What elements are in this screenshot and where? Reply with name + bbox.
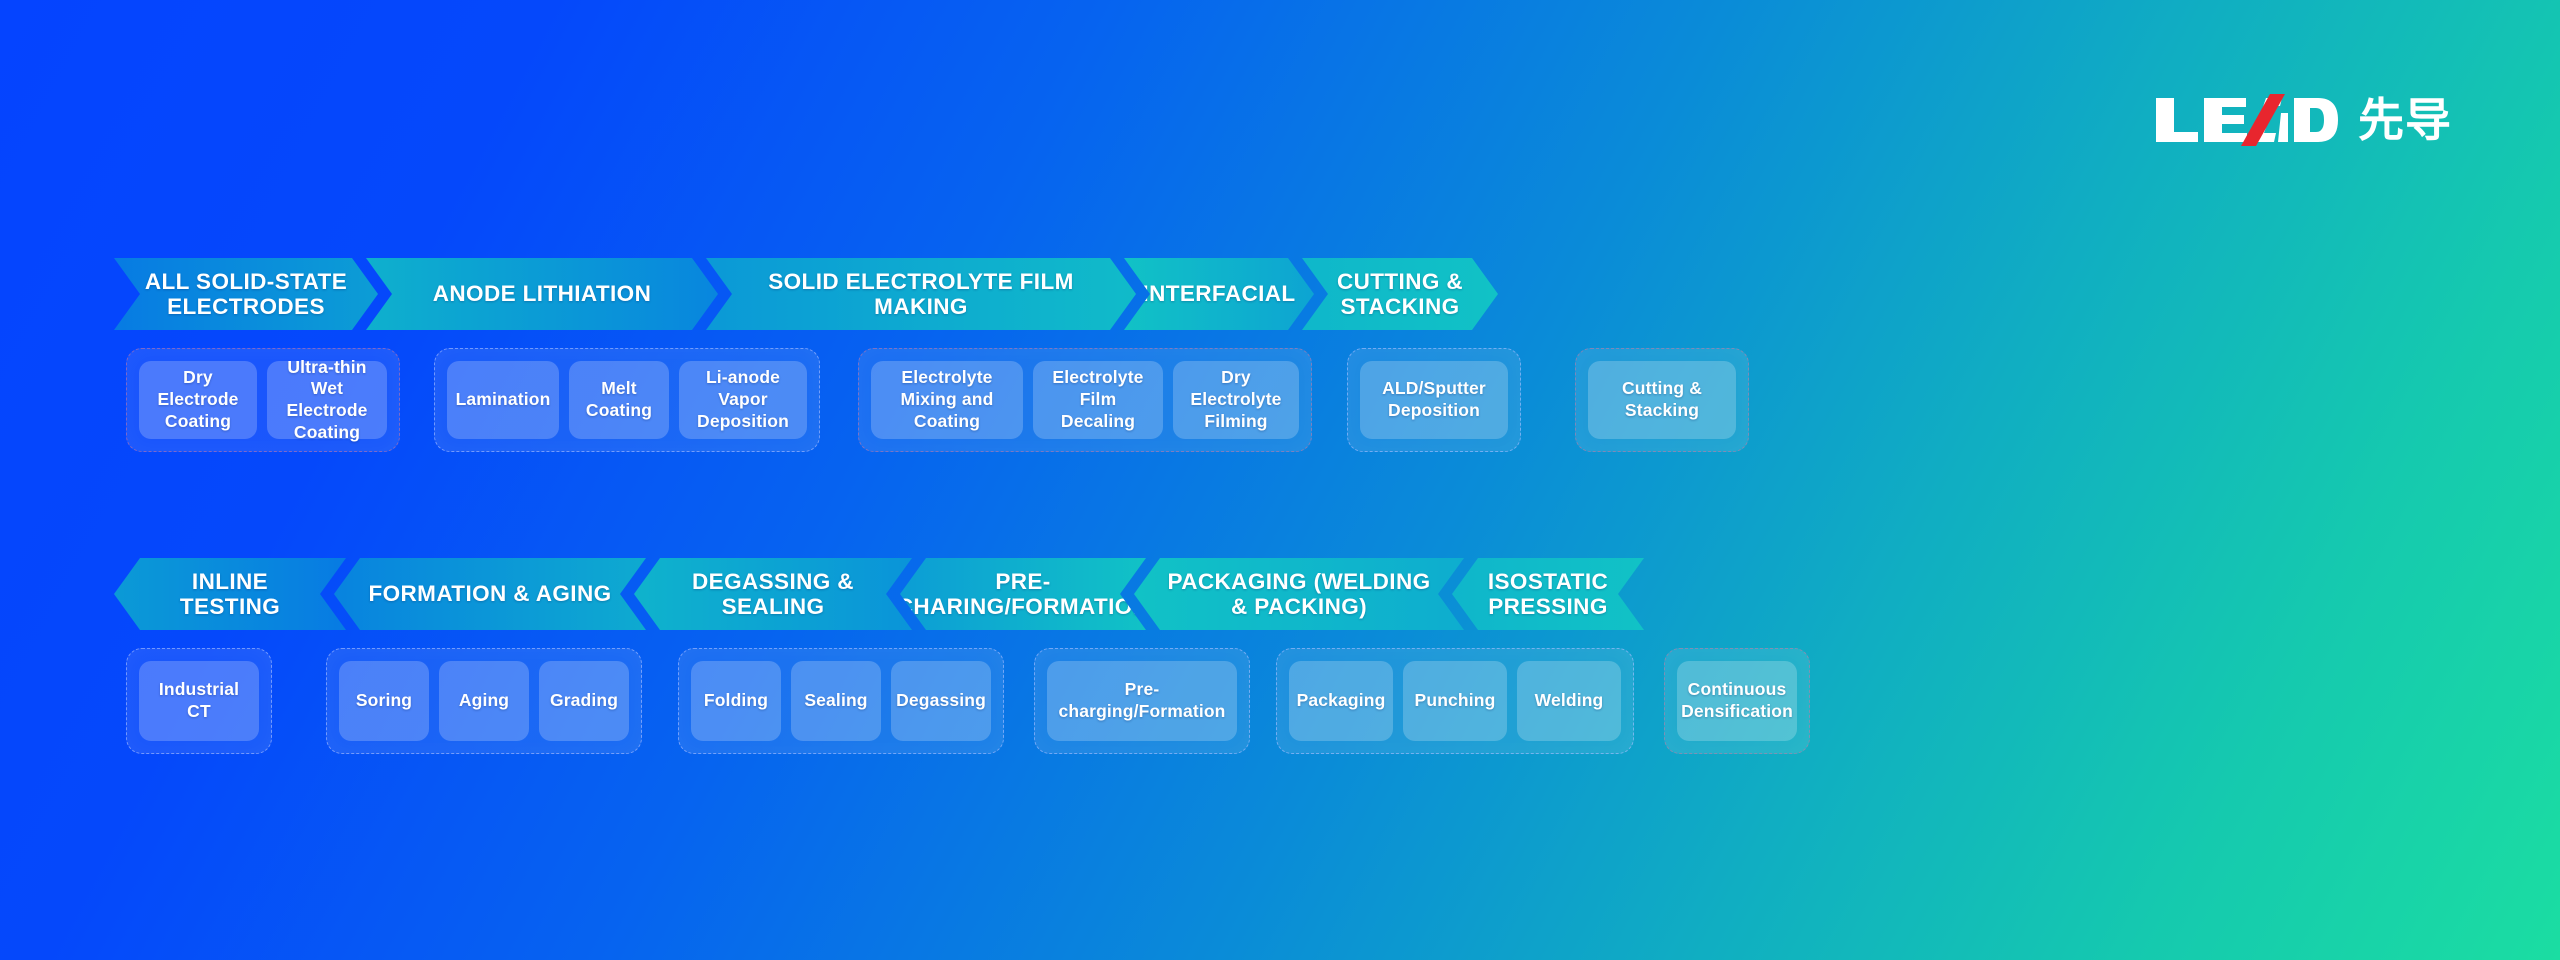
process-card-grading[interactable]: Grading (539, 661, 629, 741)
process-card-ald-sputter-deposition[interactable]: ALD/Sputter Deposition (1360, 361, 1508, 439)
process-group-2-5: PackagingPunchingWelding (1276, 648, 1634, 754)
stage-banner-label: SOLID ELECTROLYTE FILM MAKING (732, 269, 1110, 319)
process-group-1-4: ALD/Sputter Deposition (1347, 348, 1521, 452)
stage-banner-packaging-welding-packing[interactable]: PACKAGING (WELDING & PACKING) (1134, 558, 1464, 630)
stage-banner-isostatic-pressing[interactable]: ISOSTATIC PRESSING (1452, 558, 1644, 630)
process-card-pre-charging-formation[interactable]: Pre-charging/Formation (1047, 661, 1237, 741)
process-card-ultra-thin-wet-electrode-coating[interactable]: Ultra-thin Wet Electrode Coating (267, 361, 387, 439)
stage-banner-label: PRE-CHARING/FORMATION (897, 569, 1150, 619)
stage-banner-label: PACKAGING (WELDING & PACKING) (1160, 569, 1438, 619)
stage-banner-solid-electrolyte-film-making[interactable]: SOLID ELECTROLYTE FILM MAKING (706, 258, 1136, 330)
process-row-1: ALL SOLID-STATE ELECTRODESANODE LITHIATI… (0, 258, 2560, 452)
process-card-packaging[interactable]: Packaging (1289, 661, 1393, 741)
process-group-2-3: FoldingSealingDegassing (678, 648, 1004, 754)
process-card-dry-electrode-coating[interactable]: Dry Electrode Coating (139, 361, 257, 439)
process-group-2-4: Pre-charging/Formation (1034, 648, 1250, 754)
process-card-welding[interactable]: Welding (1517, 661, 1621, 741)
process-group-1-1: Dry Electrode CoatingUltra-thin Wet Elec… (126, 348, 400, 452)
process-group-2-1: Industrial CT (126, 648, 272, 754)
stage-banner-label: FORMATION & AGING (368, 581, 611, 606)
process-card-li-anode-vapor-deposition[interactable]: Li-anode Vapor Deposition (679, 361, 807, 439)
stage-banner-cutting-stacking[interactable]: CUTTING & STACKING (1302, 258, 1498, 330)
process-group-1-5: Cutting & Stacking (1575, 348, 1749, 452)
process-group-1-2: LaminationMelt CoatingLi-anode Vapor Dep… (434, 348, 820, 452)
group-strip-row-1: Dry Electrode CoatingUltra-thin Wet Elec… (114, 348, 2446, 452)
stage-banner-all-solid-state-electrodes[interactable]: ALL SOLID-STATE ELECTRODES (114, 258, 378, 330)
process-group-2-2: SoringAgingGrading (326, 648, 642, 754)
brand-logo: 先导 (2154, 92, 2452, 148)
process-group-2-6: Continuous Densification (1664, 648, 1810, 754)
process-card-continuous-densification[interactable]: Continuous Densification (1677, 661, 1797, 741)
process-group-1-3: Electrolyte Mixing and CoatingElectrolyt… (858, 348, 1312, 452)
lead-wordmark-icon (2154, 94, 2340, 146)
process-card-punching[interactable]: Punching (1403, 661, 1507, 741)
process-card-cutting-stacking[interactable]: Cutting & Stacking (1588, 361, 1736, 439)
process-card-electrolyte-mixing-and-coating[interactable]: Electrolyte Mixing and Coating (871, 361, 1023, 439)
stage-banner-interfacial[interactable]: INTERFACIAL (1124, 258, 1314, 330)
process-row-2: INLINE TESTINGFORMATION & AGINGDEGASSING… (0, 558, 2560, 754)
stage-banner-label: CUTTING & STACKING (1328, 269, 1472, 319)
process-card-soring[interactable]: Soring (339, 661, 429, 741)
process-card-degassing[interactable]: Degassing (891, 661, 991, 741)
group-strip-row-2: Industrial CTSoringAgingGradingFoldingSe… (114, 648, 2446, 754)
banner-strip-row-2: INLINE TESTINGFORMATION & AGINGDEGASSING… (114, 558, 2446, 630)
stage-banner-label: ANODE LITHIATION (433, 281, 651, 306)
stage-banner-label: ALL SOLID-STATE ELECTRODES (140, 269, 352, 319)
process-card-folding[interactable]: Folding (691, 661, 781, 741)
process-card-lamination[interactable]: Lamination (447, 361, 559, 439)
process-card-dry-electrolyte-filming[interactable]: Dry Electrolyte Filming (1173, 361, 1299, 439)
process-card-aging[interactable]: Aging (439, 661, 529, 741)
process-card-melt-coating[interactable]: Melt Coating (569, 361, 669, 439)
stage-banner-degassing-sealing[interactable]: DEGASSING & SEALING (634, 558, 912, 630)
process-card-sealing[interactable]: Sealing (791, 661, 881, 741)
process-card-electrolyte-film-decaling[interactable]: Electrolyte Film Decaling (1033, 361, 1163, 439)
stage-banner-anode-lithiation[interactable]: ANODE LITHIATION (366, 258, 718, 330)
stage-banner-formation-aging[interactable]: FORMATION & AGING (334, 558, 646, 630)
brand-logo-cn: 先导 (2358, 97, 2452, 143)
stage-banner-label: DEGASSING & SEALING (660, 569, 886, 619)
stage-banner-label: ISOSTATIC PRESSING (1478, 569, 1618, 619)
stage-banner-label: INLINE TESTING (140, 569, 320, 619)
process-card-industrial-ct[interactable]: Industrial CT (139, 661, 259, 741)
stage-banner-inline-testing[interactable]: INLINE TESTING (114, 558, 346, 630)
stage-banner-label: INTERFACIAL (1142, 281, 1295, 306)
stage-banner-pre-charing-formation[interactable]: PRE-CHARING/FORMATION (900, 558, 1146, 630)
banner-strip-row-1: ALL SOLID-STATE ELECTRODESANODE LITHIATI… (114, 258, 2446, 330)
